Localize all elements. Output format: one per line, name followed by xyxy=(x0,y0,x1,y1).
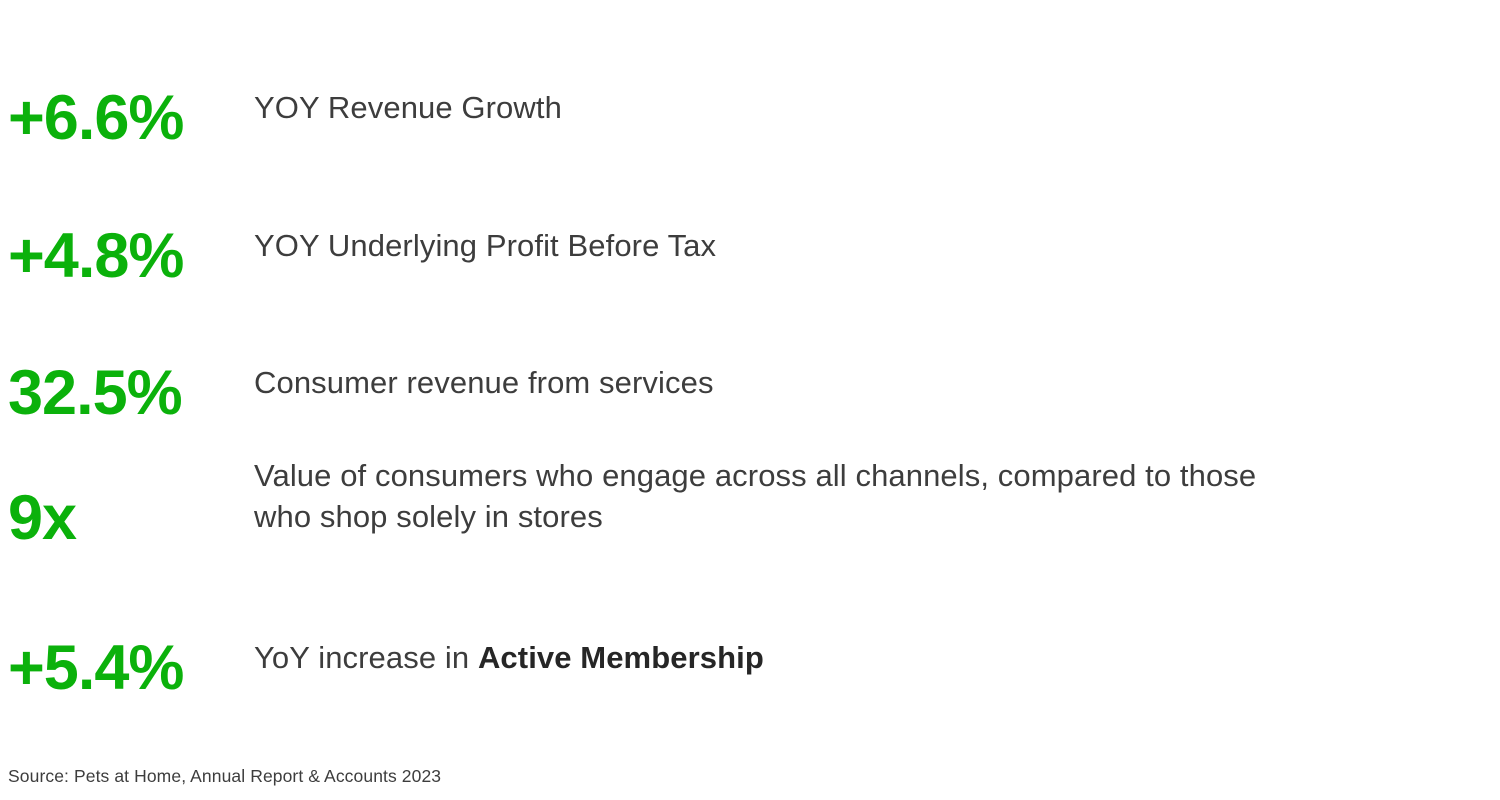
stat-label-revenue-growth: YOY Revenue Growth xyxy=(254,87,1500,128)
stat-label-active-membership-emphasis: Active Membership xyxy=(478,640,764,675)
stat-value-omnichannel-value: 9x xyxy=(0,455,254,550)
stat-value-profit-before-tax: +4.8% xyxy=(0,225,254,288)
stat-label-profit-before-tax: YOY Underlying Profit Before Tax xyxy=(254,225,1500,266)
stat-label-omnichannel-value: Value of consumers who engage across all… xyxy=(254,455,1500,537)
stat-value-active-membership: +5.4% xyxy=(0,637,254,700)
key-metrics-page: +6.6% YOY Revenue Growth +4.8% YOY Under… xyxy=(0,0,1500,800)
stat-label-active-membership-prefix: YoY increase in xyxy=(254,640,478,675)
stat-value-revenue-growth: +6.6% xyxy=(0,87,254,150)
source-note: Source: Pets at Home, Annual Report & Ac… xyxy=(8,765,441,787)
stat-row: 9x Value of consumers who engage across … xyxy=(0,455,1500,550)
stat-row: +4.8% YOY Underlying Profit Before Tax xyxy=(0,225,1500,288)
stat-row: +5.4% YoY increase in Active Membership xyxy=(0,637,1500,700)
stat-label-services-revenue: Consumer revenue from services xyxy=(254,362,1500,403)
stat-label-active-membership: YoY increase in Active Membership xyxy=(254,637,1500,678)
stat-value-services-revenue: 32.5% xyxy=(0,362,254,425)
stat-row: +6.6% YOY Revenue Growth xyxy=(0,87,1500,150)
stat-row: 32.5% Consumer revenue from services xyxy=(0,362,1500,425)
